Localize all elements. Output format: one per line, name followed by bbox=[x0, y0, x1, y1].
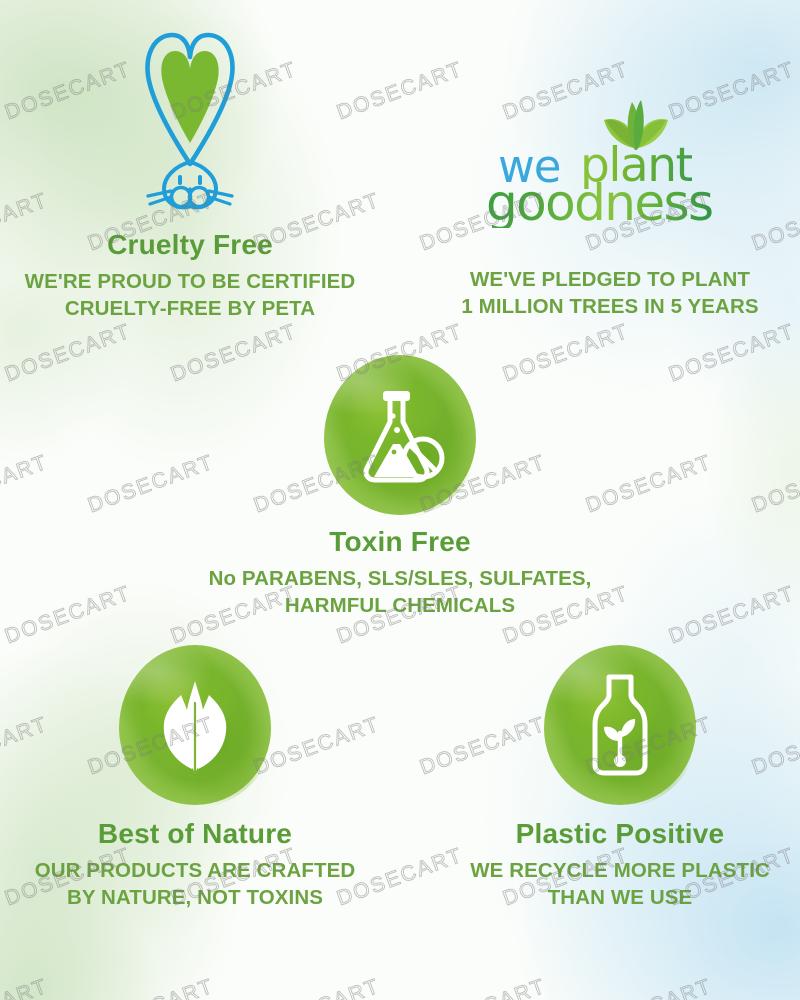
panel-description-line: THAN WE USE bbox=[440, 884, 800, 911]
panel-title: Toxin Free bbox=[200, 527, 600, 558]
three-leaves-icon bbox=[119, 645, 271, 805]
panel-description-line: OUR PRODUCTS ARE CRAFTED bbox=[0, 857, 390, 884]
panel-description-line: CRUELTY-FREE BY PETA bbox=[0, 295, 380, 322]
flask-no-toxins-icon bbox=[324, 355, 476, 515]
logo-word-goodness: goodness bbox=[486, 178, 712, 228]
panel-description-line: WE'RE PROUD TO BE CERTIFIED bbox=[0, 268, 380, 295]
panel-description: WE'VE PLEDGED TO PLANT 1 MILLION TREES I… bbox=[420, 266, 800, 320]
panel-description-line: No PARABENS, SLS/SLES, SULFATES, bbox=[200, 565, 600, 592]
panel-we-plant-goodness: we plant goodness WE'VE PLEDGED TO PLANT… bbox=[420, 20, 800, 320]
panel-title: Plastic Positive bbox=[440, 819, 800, 850]
bunny-heart-ears-icon bbox=[0, 20, 380, 230]
panel-description-line: WE RECYCLE MORE PLASTIC bbox=[440, 857, 800, 884]
panel-description: OUR PRODUCTS ARE CRAFTED BY NATURE, NOT … bbox=[0, 857, 390, 911]
panel-description: WE RECYCLE MORE PLASTIC THAN WE USE bbox=[440, 857, 800, 911]
panel-description: WE'RE PROUD TO BE CERTIFIED CRUELTY-FREE… bbox=[0, 268, 380, 322]
infographic-page: Cruelty Free WE'RE PROUD TO BE CERTIFIED… bbox=[0, 0, 800, 1000]
panel-description-line: WE'VE PLEDGED TO PLANT bbox=[420, 266, 800, 293]
panel-description: No PARABENS, SLS/SLES, SULFATES, HARMFUL… bbox=[200, 565, 600, 619]
panel-description-line: HARMFUL CHEMICALS bbox=[200, 592, 600, 619]
bottle-sprout-icon bbox=[544, 645, 696, 805]
panel-plastic-positive: Plastic Positive WE RECYCLE MORE PLASTIC… bbox=[440, 645, 800, 911]
panel-description-line: 1 MILLION TREES IN 5 YEARS bbox=[420, 293, 800, 320]
panel-best-of-nature: Best of Nature OUR PRODUCTS ARE CRAFTED … bbox=[0, 645, 390, 911]
panel-title: Cruelty Free bbox=[0, 230, 380, 261]
panel-toxin-free: Toxin Free No PARABENS, SLS/SLES, SULFAT… bbox=[200, 355, 600, 619]
panel-description-line: BY NATURE, NOT TOXINS bbox=[0, 884, 390, 911]
panel-title: Best of Nature bbox=[0, 819, 390, 850]
we-plant-goodness-logo: we plant goodness bbox=[420, 20, 800, 230]
panel-cruelty-free: Cruelty Free WE'RE PROUD TO BE CERTIFIED… bbox=[0, 20, 380, 322]
